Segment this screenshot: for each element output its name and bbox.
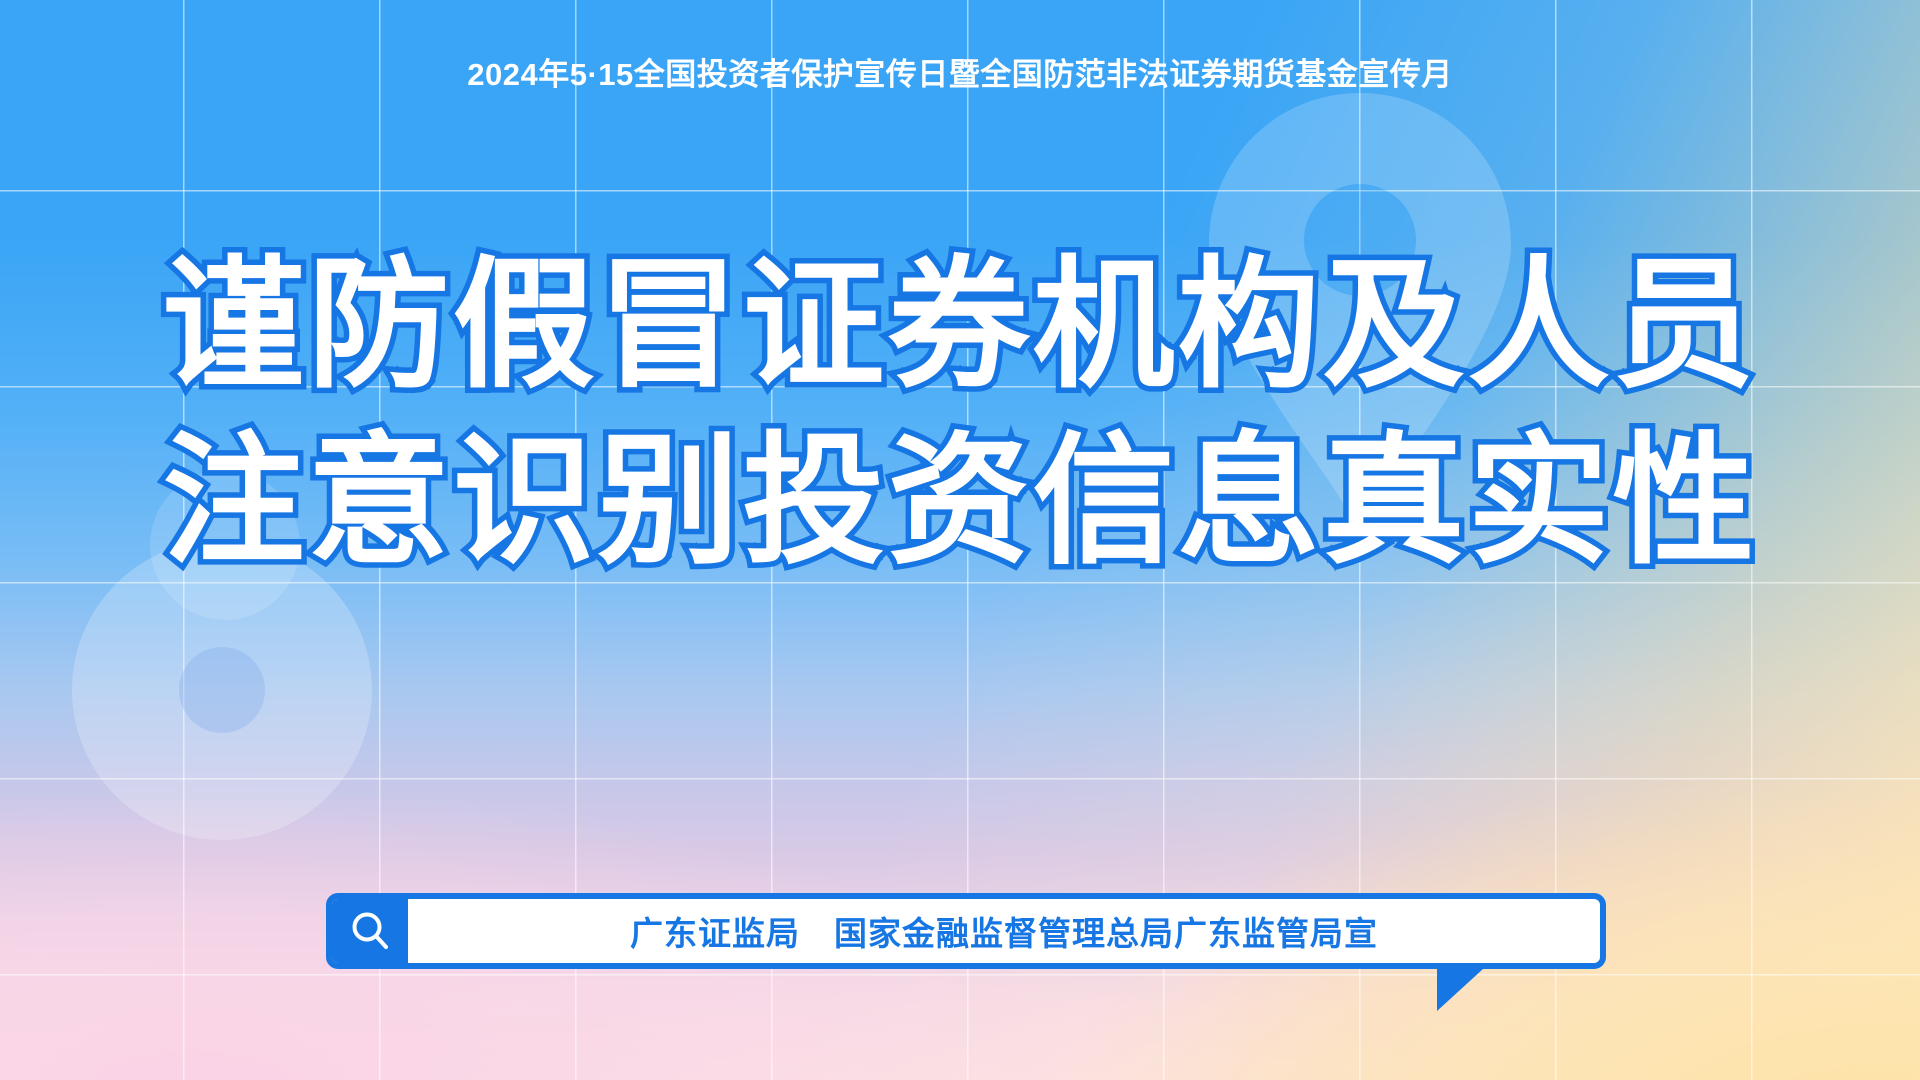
title-line-2: 注意识别投资信息真实性 [0, 414, 1920, 590]
footer-bar-text: 广东证监局国家金融监督管理总局广东监管局宣 [408, 899, 1600, 963]
promotional-banner: 2024年5·15全国投资者保护宣传日暨全国防范非法证券期货基金宣传月 谨防假冒… [0, 0, 1920, 1080]
footer-org-line: 广东证监局国家金融监督管理总局广东监管局宣 [630, 907, 1378, 955]
header-campaign-text: 2024年5·15全国投资者保护宣传日暨全国防范非法证券期货基金宣传月 [467, 58, 1453, 92]
footer-attribution-bar: 广东证监局国家金融监督管理总局广东监管局宣 [326, 893, 1606, 969]
search-icon [332, 899, 408, 963]
footer-org-primary: 广东证监局 [630, 915, 800, 952]
main-title: 谨防假冒证券机构及人员 注意识别投资信息真实性 [0, 238, 1920, 590]
title-line-1: 谨防假冒证券机构及人员 [0, 238, 1920, 414]
speech-bubble-tail [1437, 969, 1483, 1011]
footer-bar-shell: 广东证监局国家金融监督管理总局广东监管局宣 [326, 893, 1606, 969]
header-campaign-line: 2024年5·15全国投资者保护宣传日暨全国防范非法证券期货基金宣传月 [0, 58, 1920, 92]
footer-org-secondary: 国家金融监督管理总局广东监管局宣 [834, 915, 1378, 952]
